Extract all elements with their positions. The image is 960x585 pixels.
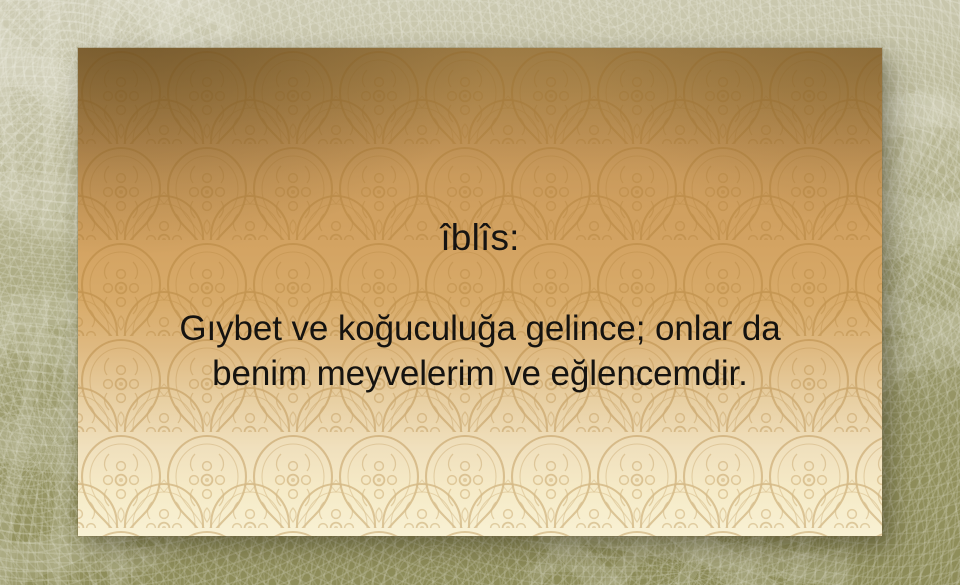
- quote-card: îblîs: Gıybet ve koğuculuğa gelince; onl…: [78, 48, 882, 536]
- quote-line-2: benim meyvelerim ve eğlencemdir.: [130, 351, 830, 396]
- quote-body: Gıybet ve koğuculuğa gelince; onlar da b…: [130, 306, 830, 396]
- quote-text-layer: îblîs: Gıybet ve koğuculuğa gelince; onl…: [78, 48, 882, 536]
- quote-image: îblîs: Gıybet ve koğuculuğa gelince; onl…: [0, 0, 960, 585]
- quote-line-1: Gıybet ve koğuculuğa gelince; onlar da: [130, 306, 830, 351]
- quote-speaker: îblîs:: [78, 216, 882, 260]
